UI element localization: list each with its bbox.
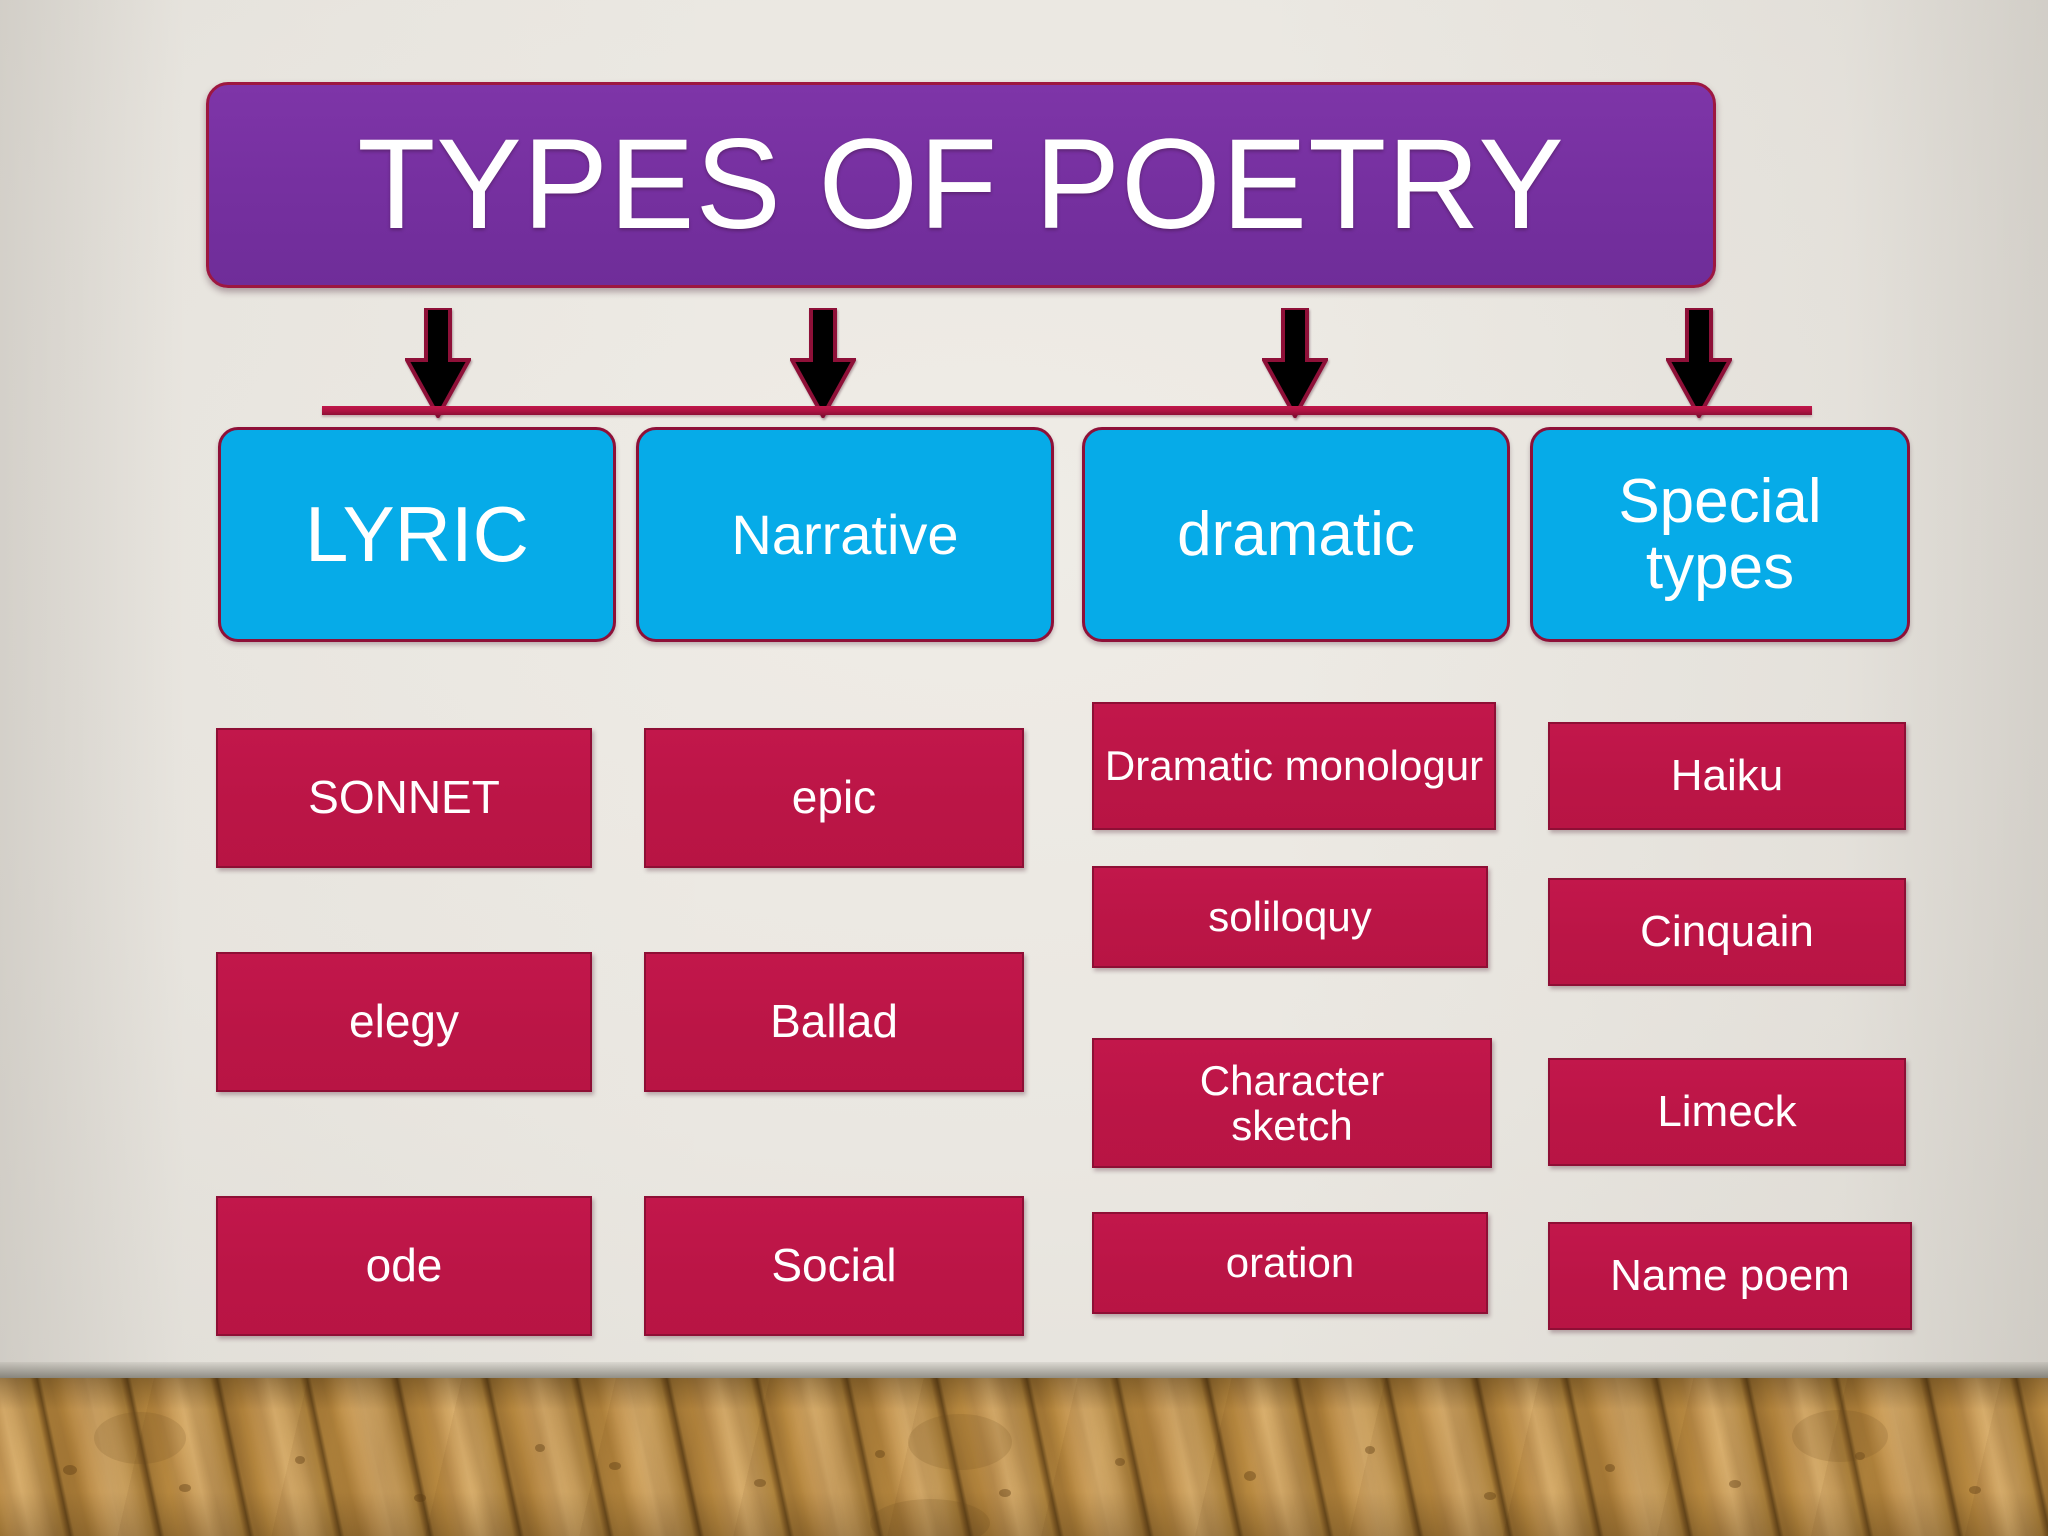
- arrow-to-lyric: [405, 308, 471, 418]
- item-box-social[interactable]: Social: [644, 1196, 1024, 1336]
- item-label-oration: oration: [1220, 1240, 1360, 1285]
- item-label-name-poem: Name poem: [1604, 1252, 1856, 1300]
- item-label-cinquain: Cinquain: [1634, 908, 1820, 956]
- category-box-lyric[interactable]: LYRIC: [218, 427, 616, 642]
- item-box-name-poem[interactable]: Name poem: [1548, 1222, 1912, 1330]
- item-box-oration[interactable]: oration: [1092, 1212, 1488, 1314]
- category-box-narrative[interactable]: Narrative: [636, 427, 1054, 642]
- category-label-dramatic: dramatic: [1169, 502, 1423, 568]
- item-box-ballad[interactable]: Ballad: [644, 952, 1024, 1092]
- category-box-dramatic[interactable]: dramatic: [1082, 427, 1510, 642]
- category-box-special-types[interactable]: Special types: [1530, 427, 1910, 642]
- slide-title-banner: TYPES OF POETRY: [206, 82, 1716, 288]
- item-box-limeck[interactable]: Limeck: [1548, 1058, 1906, 1166]
- connector-rail: [322, 406, 1812, 415]
- arrow-to-dramatic: [1262, 308, 1328, 418]
- item-label-ballad: Ballad: [764, 997, 904, 1047]
- item-box-cinquain[interactable]: Cinquain: [1548, 878, 1906, 986]
- category-label-lyric: LYRIC: [297, 493, 537, 576]
- item-box-haiku[interactable]: Haiku: [1548, 722, 1906, 830]
- item-label-epic: epic: [786, 773, 882, 823]
- item-box-epic[interactable]: epic: [644, 728, 1024, 868]
- item-box-character-sketch[interactable]: Character sketch: [1092, 1038, 1492, 1168]
- item-label-ode: ode: [360, 1241, 449, 1291]
- floor-shading: [0, 1378, 2048, 1536]
- item-label-social: Social: [765, 1241, 902, 1291]
- item-label-limeck: Limeck: [1651, 1088, 1802, 1136]
- page-title: TYPES OF POETRY: [357, 121, 1565, 249]
- item-box-sonnet[interactable]: SONNET: [216, 728, 592, 868]
- item-label-character-sketch: Character sketch: [1177, 1058, 1407, 1149]
- item-label-haiku: Haiku: [1665, 752, 1790, 800]
- item-label-elegy: elegy: [343, 997, 465, 1047]
- wooden-floor: [0, 1378, 2048, 1536]
- item-box-elegy[interactable]: elegy: [216, 952, 592, 1092]
- item-label-sonnet: SONNET: [302, 773, 506, 823]
- item-label-dramatic-monologue: Dramatic monologur: [1099, 743, 1489, 788]
- arrow-to-special-types: [1666, 308, 1732, 418]
- category-label-special-types: Special types: [1585, 469, 1855, 600]
- item-label-soliloquy: soliloquy: [1202, 894, 1377, 939]
- category-label-narrative: Narrative: [723, 505, 966, 564]
- item-box-ode[interactable]: ode: [216, 1196, 592, 1336]
- item-box-soliloquy[interactable]: soliloquy: [1092, 866, 1488, 968]
- item-box-dramatic-monologue[interactable]: Dramatic monologur: [1092, 702, 1496, 830]
- arrow-to-narrative: [790, 308, 856, 418]
